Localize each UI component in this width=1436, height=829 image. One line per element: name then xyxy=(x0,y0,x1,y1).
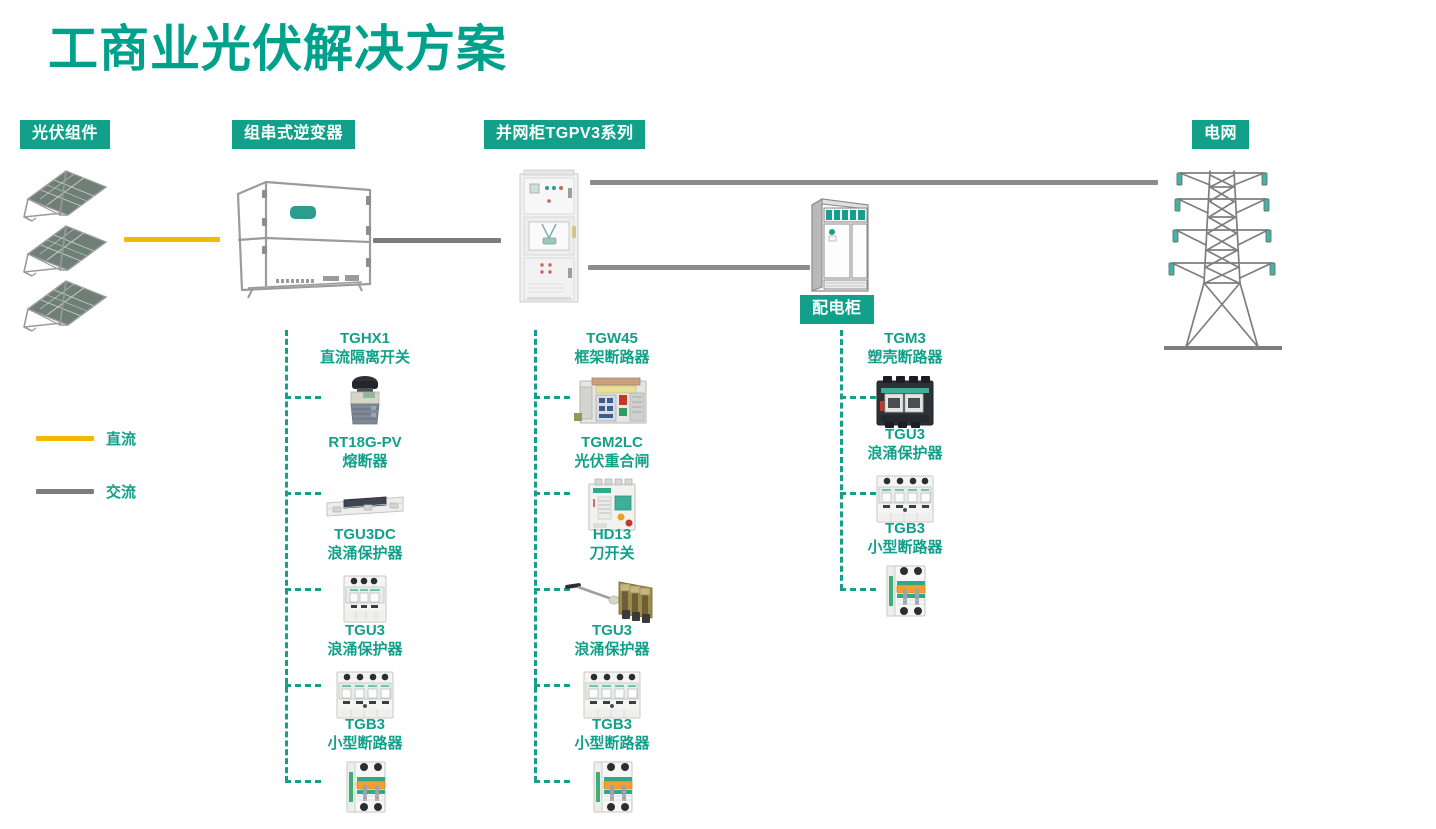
diagram-canvas: 工商业光伏解决方案 光伏组件 组串式逆变器 并网柜TGPV3系列 电网 配电柜 xyxy=(0,0,1436,829)
component-code: TGU3 xyxy=(265,622,465,641)
ac-connection-line-inverter xyxy=(373,238,501,243)
component-code: RT18G-PV xyxy=(265,434,465,453)
legend-item-dc: 直流 xyxy=(36,428,136,449)
component-item: TGU3 浪涌保护器 xyxy=(265,622,465,724)
distribution-cabinet-icon xyxy=(808,195,872,295)
surge-protector-icon xyxy=(265,662,465,724)
transmission-tower-icon xyxy=(1160,165,1285,360)
tag-grid-cabinet: 并网柜TGPV3系列 xyxy=(484,120,645,149)
component-item: TGB3 小型断路器 xyxy=(265,716,465,818)
dc-isolator-switch-icon xyxy=(265,370,465,432)
component-code: TGU3DC xyxy=(265,526,465,545)
component-code: TGB3 xyxy=(805,520,1005,539)
component-desc: 框架断路器 xyxy=(512,349,712,368)
component-code: TGU3 xyxy=(805,426,1005,445)
component-desc: 刀开关 xyxy=(512,545,712,564)
knife-switch-icon xyxy=(512,566,712,628)
component-desc: 直流隔离开关 xyxy=(265,349,465,368)
dc-connection-line xyxy=(124,237,220,242)
page-title: 工商业光伏解决方案 xyxy=(48,22,507,77)
component-desc: 浪涌保护器 xyxy=(805,445,1005,464)
component-item: TGM3 塑壳断路器 xyxy=(805,330,1005,432)
component-item: TGU3 浪涌保护器 xyxy=(805,426,1005,528)
solar-panel-array-group xyxy=(22,165,122,330)
miniature-circuit-breaker-icon xyxy=(265,756,465,818)
component-item: TGB3 小型断路器 xyxy=(805,520,1005,622)
component-desc: 浪涌保护器 xyxy=(265,641,465,660)
component-desc: 熔断器 xyxy=(265,453,465,472)
component-code: TGM3 xyxy=(805,330,1005,349)
legend-label-dc: 直流 xyxy=(106,428,136,449)
tag-distribution-cabinet: 配电柜 xyxy=(800,295,874,324)
legend-swatch-ac xyxy=(36,489,94,494)
component-desc: 小型断路器 xyxy=(512,735,712,754)
component-code: TGW45 xyxy=(512,330,712,349)
string-inverter-icon xyxy=(228,162,378,302)
component-item: TGU3 浪涌保护器 xyxy=(512,622,712,724)
component-item: TGB3 小型断路器 xyxy=(512,716,712,818)
component-item: RT18G-PV 熔断器 xyxy=(265,434,465,536)
legend-label-ac: 交流 xyxy=(106,481,136,502)
component-item: HD13 刀开关 xyxy=(512,526,712,628)
surge-protector-icon xyxy=(805,466,1005,528)
component-code: TGU3 xyxy=(512,622,712,641)
moulded-case-circuit-breaker-icon xyxy=(805,370,1005,432)
component-code: TGHX1 xyxy=(265,330,465,349)
component-desc: 浪涌保护器 xyxy=(265,545,465,564)
component-item: TGU3DC 浪涌保护器 xyxy=(265,526,465,628)
tag-string-inverter: 组串式逆变器 xyxy=(232,120,355,149)
grid-connection-cabinet-icon xyxy=(518,168,580,303)
surge-protector-dc-icon xyxy=(265,566,465,628)
surge-protector-icon xyxy=(512,662,712,724)
miniature-circuit-breaker-icon xyxy=(805,560,1005,622)
air-circuit-breaker-icon xyxy=(512,370,712,432)
legend-swatch-dc xyxy=(36,436,94,441)
component-desc: 塑壳断路器 xyxy=(805,349,1005,368)
miniature-circuit-breaker-icon xyxy=(512,756,712,818)
component-code: HD13 xyxy=(512,526,712,545)
component-item: TGM2LC 光伏重合闸 xyxy=(512,434,712,536)
legend: 直流 交流 xyxy=(36,428,136,502)
component-item: TGHX1 直流隔离开关 xyxy=(265,330,465,432)
component-code: TGB3 xyxy=(512,716,712,735)
component-item: TGW45 框架断路器 xyxy=(512,330,712,432)
component-desc: 小型断路器 xyxy=(805,539,1005,558)
component-code: TGB3 xyxy=(265,716,465,735)
component-code: TGM2LC xyxy=(512,434,712,453)
tag-power-grid: 电网 xyxy=(1192,120,1249,149)
tag-pv-modules: 光伏组件 xyxy=(20,120,110,149)
component-desc: 小型断路器 xyxy=(265,735,465,754)
component-desc: 浪涌保护器 xyxy=(512,641,712,660)
legend-item-ac: 交流 xyxy=(36,481,136,502)
component-desc: 光伏重合闸 xyxy=(512,453,712,472)
ac-connection-line-distribution xyxy=(588,265,810,270)
ac-connection-line-grid xyxy=(590,180,1158,185)
